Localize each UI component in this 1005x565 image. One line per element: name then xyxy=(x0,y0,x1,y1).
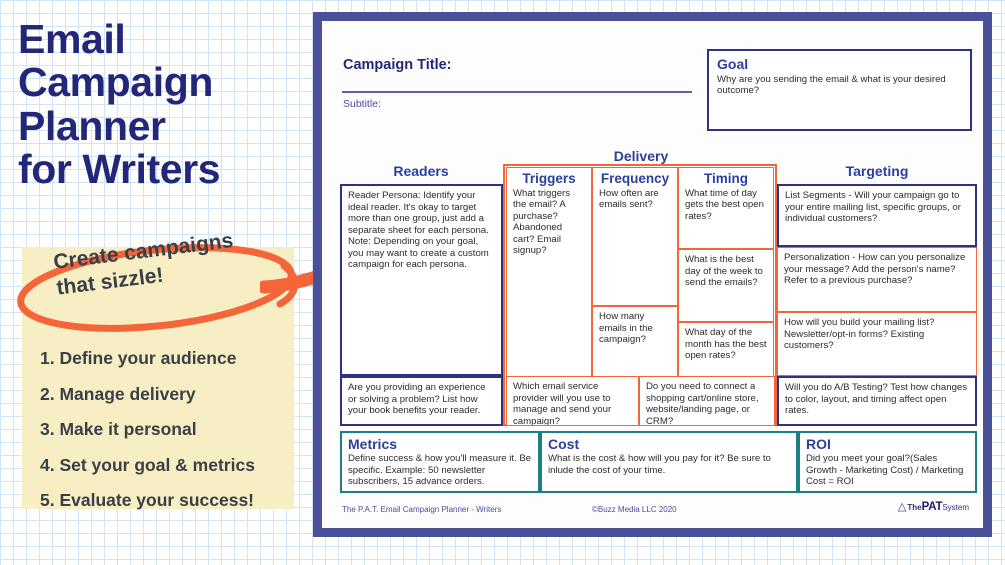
timing-cell-1[interactable]: Timing What time of day gets the best op… xyxy=(678,167,774,249)
timing-cell-2[interactable]: What is the best day of the week to send… xyxy=(678,249,774,322)
poster-canvas: Email Campaign Planner for Writers Creat… xyxy=(0,0,1005,565)
list-item: 5. Evaluate your success! xyxy=(40,492,300,510)
metrics-cell[interactable]: Metrics Define success & how you'll meas… xyxy=(340,431,540,493)
left-panel: Email Campaign Planner for Writers Creat… xyxy=(0,0,310,565)
goal-title: Goal xyxy=(717,56,962,72)
logo-system: System xyxy=(942,503,969,512)
pat-system-logo: △ The PAT System xyxy=(898,500,969,513)
goal-box[interactable]: Goal Why are you sending the email & wha… xyxy=(707,49,972,131)
subtitle-label: Subtitle: xyxy=(343,98,381,110)
circle-annotation-icon xyxy=(8,238,308,338)
targeting-cell-1[interactable]: List Segments - Will your campaign go to… xyxy=(777,184,977,247)
triggers-title: Triggers xyxy=(513,172,585,187)
cost-title: Cost xyxy=(548,437,790,452)
section-header-readers: Readers xyxy=(340,163,502,179)
worksheet-inner: Campaign Title: Subtitle: Goal Why are y… xyxy=(322,21,983,528)
shopping-cart-cell[interactable]: Do you need to connect a shopping cart/o… xyxy=(639,376,775,426)
timing-text-3: What day of the month has the best open … xyxy=(685,327,767,362)
roi-text: Did you meet your goal?(Sales Growth - M… xyxy=(806,453,969,488)
footer-left-text: The P.A.T. Email Campaign Planner - Writ… xyxy=(342,505,501,514)
targeting-text-2: Personalization - How can you personaliz… xyxy=(784,252,970,287)
targeting-text-3: How will you build your mailing list? Ne… xyxy=(784,317,970,352)
targeting-cell-2[interactable]: Personalization - How can you personaliz… xyxy=(777,247,977,312)
logo-mark-icon: △ xyxy=(898,500,906,513)
page-title-line-3: Planner xyxy=(18,105,298,148)
targeting-cell-4[interactable]: Will you do A/B Testing? Test how change… xyxy=(777,376,977,426)
page-title-line-4: for Writers xyxy=(18,148,298,191)
roi-cell[interactable]: ROI Did you meet your goal?(Sales Growth… xyxy=(798,431,977,493)
frequency-title: Frequency xyxy=(599,172,671,187)
readers-persona-text: Reader Persona: Identify your ideal read… xyxy=(348,190,495,271)
readers-benefits-cell[interactable]: Are you providing an experience or solvi… xyxy=(340,376,503,426)
logo-the: The xyxy=(907,503,921,512)
list-item: 2. Manage delivery xyxy=(40,386,300,404)
cost-text: What is the cost & how will you pay for … xyxy=(548,453,790,476)
cost-cell[interactable]: Cost What is the cost & how will you pay… xyxy=(540,431,798,493)
timing-text-1: What time of day gets the best open rate… xyxy=(685,188,767,223)
page-title-line-2: Campaign xyxy=(18,61,298,104)
frequency-text-1: How often are emails sent? xyxy=(599,188,671,211)
email-service-provider-text: Which email service provider will you us… xyxy=(513,381,632,426)
timing-title: Timing xyxy=(685,172,767,187)
readers-benefits-text: Are you providing an experience or solvi… xyxy=(348,382,495,417)
page-title: Email Campaign Planner for Writers xyxy=(18,18,298,192)
shopping-cart-text: Do you need to connect a shopping cart/o… xyxy=(646,381,768,426)
triggers-text: What triggers the email? A purchase? Aba… xyxy=(513,188,585,257)
list-item: 1. Define your audience xyxy=(40,350,300,368)
email-service-provider-cell[interactable]: Which email service provider will you us… xyxy=(506,376,639,426)
steps-list: 1. Define your audience 2. Manage delive… xyxy=(40,350,300,528)
metrics-text: Define success & how you'll measure it. … xyxy=(348,453,532,488)
list-item: 4. Set your goal & metrics xyxy=(40,457,300,475)
metrics-title: Metrics xyxy=(348,437,532,452)
targeting-cell-3[interactable]: How will you build your mailing list? Ne… xyxy=(777,312,977,376)
section-header-targeting: Targeting xyxy=(777,163,977,179)
list-item: 3. Make it personal xyxy=(40,421,300,439)
campaign-title-input[interactable] xyxy=(342,91,692,93)
logo-pat: PAT xyxy=(922,501,943,513)
goal-body: Why are you sending the email & what is … xyxy=(717,74,962,97)
targeting-text-4: Will you do A/B Testing? Test how change… xyxy=(785,382,969,417)
roi-title: ROI xyxy=(806,437,969,452)
frequency-cell-1[interactable]: Frequency How often are emails sent? xyxy=(592,167,678,306)
campaign-title-label: Campaign Title: xyxy=(343,57,452,73)
targeting-text-1: List Segments - Will your campaign go to… xyxy=(785,190,969,225)
footer-copyright: ©Buzz Media LLC 2020 xyxy=(592,505,677,514)
frequency-text-2: How many emails in the campaign? xyxy=(599,311,671,346)
timing-text-2: What is the best day of the week to send… xyxy=(685,254,767,289)
readers-persona-cell[interactable]: Reader Persona: Identify your ideal read… xyxy=(340,184,503,376)
worksheet-frame: Campaign Title: Subtitle: Goal Why are y… xyxy=(313,12,992,537)
page-title-line-1: Email xyxy=(18,18,298,61)
section-header-delivery: Delivery xyxy=(507,148,775,164)
